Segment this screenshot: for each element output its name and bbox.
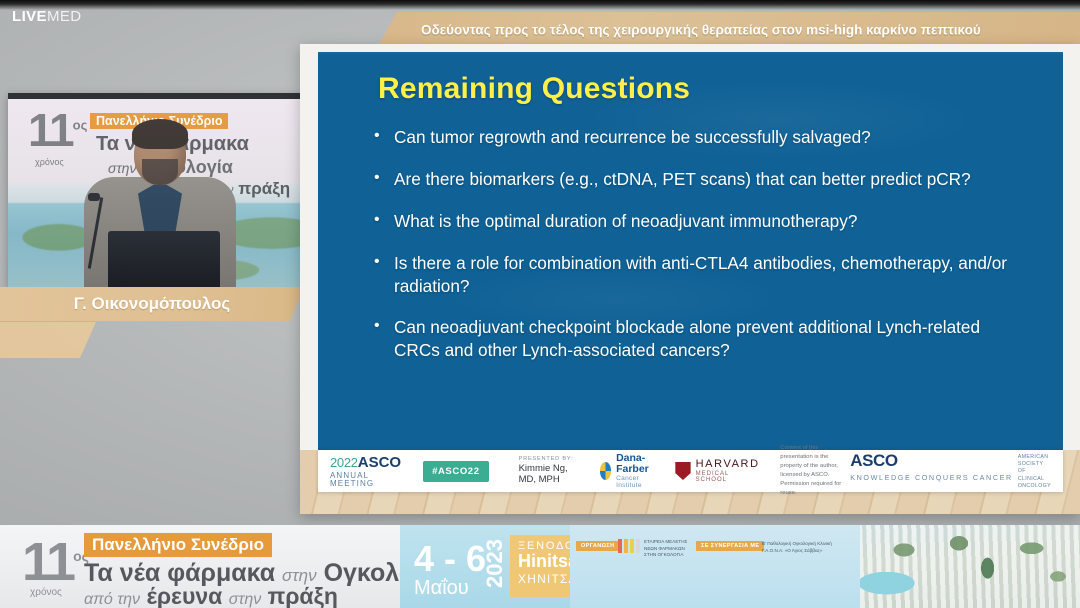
banner-organizers: ΟΡΓΑΝΩΣΗ ΕΤΑΙΡΕΙΑ ΜΕΛΕΤΗΣ ΝΕΩΝ ΦΑΡΜΑΚΩΝ …: [570, 525, 860, 608]
poster-years-label: χρόνος: [35, 157, 64, 167]
harvard-subtitle: MEDICAL SCHOOL: [696, 471, 761, 483]
session-title-banner: Οδεύοντας προς το τέλος της χειρουργικής…: [377, 12, 1080, 48]
presentation-slide: Remaining Questions Can tumor regrowth a…: [318, 52, 1063, 450]
banner-congress-logo: 11ος χρόνος Πανελλήνιο Συνέδριο Τα νέα φ…: [0, 525, 400, 608]
banner-years-label: χρόνος: [30, 587, 62, 598]
asco-society-tagline: KNOWLEDGE CONQUERS CANCER: [850, 473, 1013, 482]
slide-bullet-item: Is there a role for combination with ant…: [370, 252, 1030, 298]
webinar-stage: LIVEMED Οδεύοντας προς το τέλος της χειρ…: [0, 0, 1080, 608]
asco-wordmark: ASCO: [358, 454, 401, 471]
banner-date-venue: 4 - 6 Μαΐου 2023 ΞΕΝΟΔΟΧΕΙΟ Hinitsa Bay …: [400, 525, 570, 608]
slide-bullet-item: Can tumor regrowth and recurrence be suc…: [370, 126, 1030, 149]
presenter-name: Kimmie Ng, MD, MPH: [519, 463, 574, 487]
banner-line-3: από την έρευνα στην πράξη: [84, 583, 338, 608]
poster-edition-number: 11ος: [28, 107, 87, 153]
microphone-head-icon: [88, 193, 100, 201]
banner-year: 2023: [482, 539, 508, 588]
banner-congress-badge: Πανελλήνιο Συνέδριο: [84, 533, 272, 557]
dana-farber-logo: Dana-Farber Cancer Institute: [600, 453, 656, 489]
livemed-logo: LIVEMED: [12, 8, 82, 25]
dana-farber-mark-icon: [600, 462, 611, 480]
stage-top-shadow: [0, 0, 1080, 10]
speaker-video-inner: 11ος χρόνος Πανελλήνιο Συνέδριο Τα νέα φ…: [8, 93, 304, 289]
collaboration-badge: ΣΕ ΣΥΝΕΡΓΑΣΙΑ ΜΕ: [696, 541, 764, 551]
organizer-badge: ΟΡΓΑΝΩΣΗ: [576, 541, 619, 551]
harvard-logo: HARVARD MEDICAL SCHOOL: [675, 459, 760, 483]
dana-farber-name: Dana-Farber: [616, 453, 655, 475]
tan-accent-shape: [0, 322, 96, 358]
organizer-logo-icon: [618, 539, 640, 553]
livemed-logo-light: MED: [47, 8, 82, 25]
slide-container[interactable]: Content of this presentation is the prop…: [300, 44, 1080, 514]
livemed-logo-bold: LIVE: [12, 8, 47, 25]
asco-meeting-logo: 2022ASCO ANNUAL MEETING: [330, 455, 401, 488]
presented-by-label: PRESENTED BY:: [519, 456, 574, 463]
harvard-shield-icon: [675, 462, 690, 480]
speaker-video-feed[interactable]: 11ος χρόνος Πανελλήνιο Συνέδριο Τα νέα φ…: [8, 93, 304, 289]
slide-bullet-item: Can neoadjuvant checkpoint blockade alon…: [370, 316, 1030, 362]
asco-copyright-text: Content of this presentation is the prop…: [780, 444, 850, 497]
asco-society-wordmark: ASCO: [850, 452, 1013, 469]
slide-title: Remaining Questions: [378, 72, 690, 106]
banner-month: Μαΐου: [414, 577, 469, 600]
dana-farber-subtitle: Cancer Institute: [616, 475, 655, 489]
collaboration-name: Β' Παθολογική Ογκολογική Κλινική Γ.Α.Ο.Ν…: [762, 541, 832, 554]
harvard-name: HARVARD: [696, 459, 761, 471]
session-title-text: Οδεύοντας προς το τέλος της χειρουργικής…: [421, 23, 981, 38]
conference-bottom-banner: 11ος χρόνος Πανελλήνιο Συνέδριο Τα νέα φ…: [0, 525, 1080, 608]
organizer-name: ΕΤΑΙΡΕΙΑ ΜΕΛΕΤΗΣ ΝΕΩΝ ΦΑΡΜΑΚΩΝ ΣΤΗΝ ΟΓΚΟ…: [644, 539, 687, 559]
asco-year: 2022: [330, 455, 358, 470]
slide-white-margin: [300, 44, 318, 450]
slide-bullet-item: What is the optimal duration of neoadjuv…: [370, 210, 1030, 233]
speaker-beard: [142, 159, 178, 185]
presented-by-block: PRESENTED BY: Kimmie Ng, MD, MPH: [519, 456, 574, 487]
asco-hashtag-badge: #ASCO22: [423, 461, 489, 482]
banner-dates: 4 - 6: [414, 541, 486, 577]
asco-meeting-label: ANNUAL MEETING: [330, 472, 401, 488]
venue-photo-foliage: [860, 525, 1080, 608]
podium-laptop: [108, 231, 220, 289]
speaker-hair: [132, 119, 188, 149]
asco-society-logo: ASCO KNOWLEDGE CONQUERS CANCER AMERICAN …: [850, 452, 1051, 489]
asco-society-fullname: AMERICAN SOCIETY OF CLINICAL ONCOLOGY: [1018, 452, 1051, 489]
banner-edition-number: 11ος: [22, 535, 89, 589]
slide-bullet-item: Are there biomarkers (e.g., ctDNA, PET s…: [370, 168, 1030, 191]
speaker-nameplate: Γ. Οικονομόπουλος: [0, 287, 304, 321]
asco-footer-bar: 2022ASCO ANNUAL MEETING #ASCO22 PRESENTE…: [318, 450, 1063, 492]
speaker-name: Γ. Οικονομόπουλος: [74, 294, 231, 314]
slide-bullet-list: Can tumor regrowth and recurrence be suc…: [370, 126, 1030, 381]
banner-venue-photo: [860, 525, 1080, 608]
